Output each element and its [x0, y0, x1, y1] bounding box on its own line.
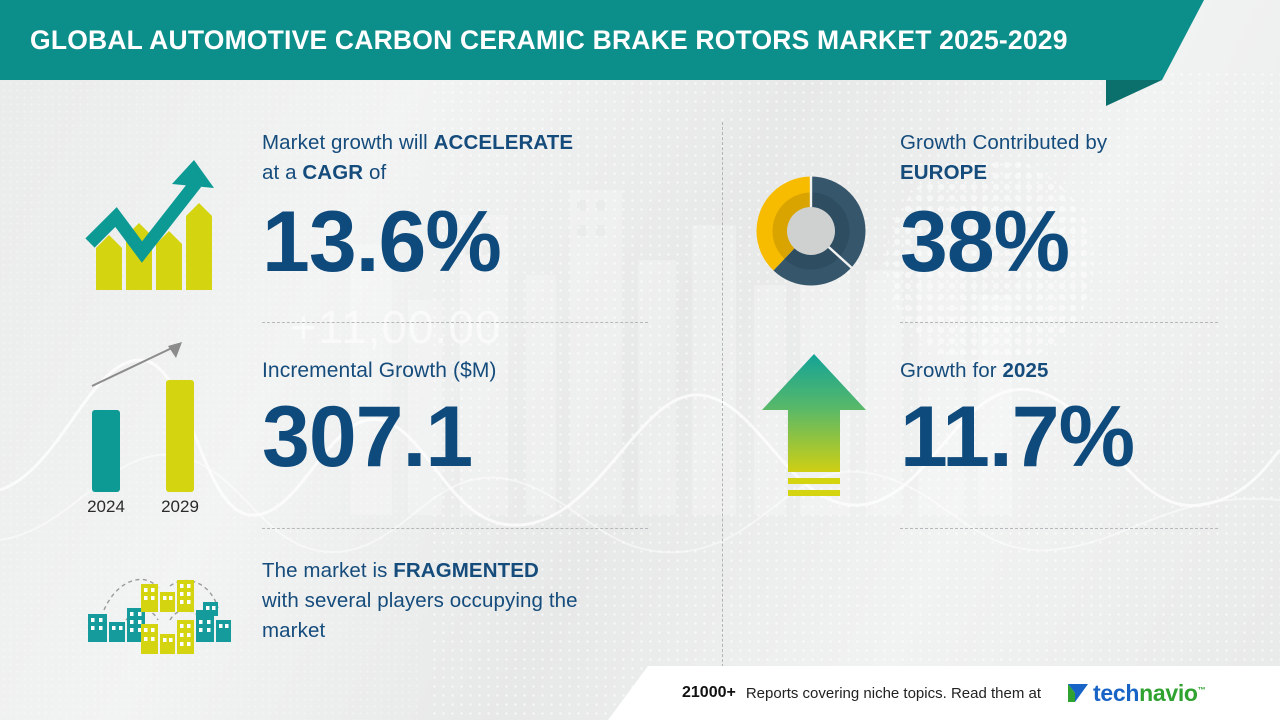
- yearly-line1-bold: 2025: [1003, 359, 1049, 382]
- incremental-label: Incremental Growth ($M): [262, 356, 662, 386]
- cagr-line2-plain-a: at a: [262, 161, 302, 184]
- growth-bar-chart-arrow-icon: [68, 140, 228, 300]
- region-line1: Growth Contributed by: [900, 131, 1107, 154]
- cagr-value: 13.6%: [262, 194, 662, 290]
- fragmented-line1-plain: The market is: [262, 559, 393, 582]
- donut-chart-icon: [748, 168, 874, 294]
- bar-label-2029: 2029: [161, 497, 199, 516]
- bar-label-2024: 2024: [87, 497, 125, 516]
- footer-report-count: 21000+: [682, 684, 736, 702]
- divider-right-2: [900, 528, 1218, 529]
- cagr-line2-bold: CAGR: [302, 161, 363, 184]
- fragmented-line3: market: [262, 619, 325, 642]
- city-buildings-network-icon: [78, 562, 240, 662]
- region-line1-bold: EUROPE: [900, 161, 987, 184]
- divider-left-1: [262, 322, 648, 323]
- upward-arrow-icon: [756, 348, 872, 508]
- logo-trademark: ™: [1198, 685, 1206, 694]
- page-title: GLOBAL AUTOMOTIVE CARBON CERAMIC BRAKE R…: [30, 0, 1068, 80]
- header-notch: [1162, 0, 1204, 80]
- footer-angled-edge: [608, 666, 648, 720]
- yearly-headline: Growth for 2025: [900, 356, 1230, 386]
- fragmented-line1-bold: FRAGMENTED: [393, 559, 539, 582]
- cagr-headline: Market growth will ACCELERATE at a CAGR …: [262, 128, 662, 188]
- yearly-value: 11.7%: [900, 390, 1230, 484]
- cagr-line2-plain-b: of: [363, 161, 386, 184]
- incremental-value: 307.1: [262, 390, 662, 484]
- cagr-line1-plain: Market growth will: [262, 131, 434, 154]
- fragmented-text: The market is FRAGMENTED with several pl…: [262, 556, 682, 646]
- background-ticker-text: +11,00.00: [290, 300, 502, 354]
- yearly-line1-plain: Growth for: [900, 359, 1003, 382]
- region-headline: Growth Contributed by EUROPE: [900, 128, 1230, 188]
- header-fold-corner: [1106, 80, 1162, 106]
- column-divider: [722, 122, 723, 667]
- cagr-line1-bold: ACCELERATE: [434, 131, 574, 154]
- divider-right-1: [900, 322, 1218, 323]
- footer-content: 21000+ Reports covering niche topics. Re…: [648, 666, 1280, 720]
- technavio-logo[interactable]: technavio™: [1065, 680, 1205, 707]
- region-value: 38%: [900, 194, 1230, 290]
- logo-text-navio: navio: [1139, 680, 1198, 706]
- logo-text-tech: tech: [1093, 680, 1139, 706]
- divider-left-2: [262, 528, 648, 529]
- footer-tagline: Reports covering niche topics. Read them…: [746, 685, 1041, 702]
- two-bar-growth-icon: 2024 2029: [70, 332, 230, 522]
- fragmented-line2: with several players occupying the: [262, 589, 578, 612]
- infographic-page: +11,00.00 GLOBAL AUTOMOTIVE CARBON CERAM…: [0, 0, 1280, 720]
- technavio-logo-mark: [1065, 680, 1091, 706]
